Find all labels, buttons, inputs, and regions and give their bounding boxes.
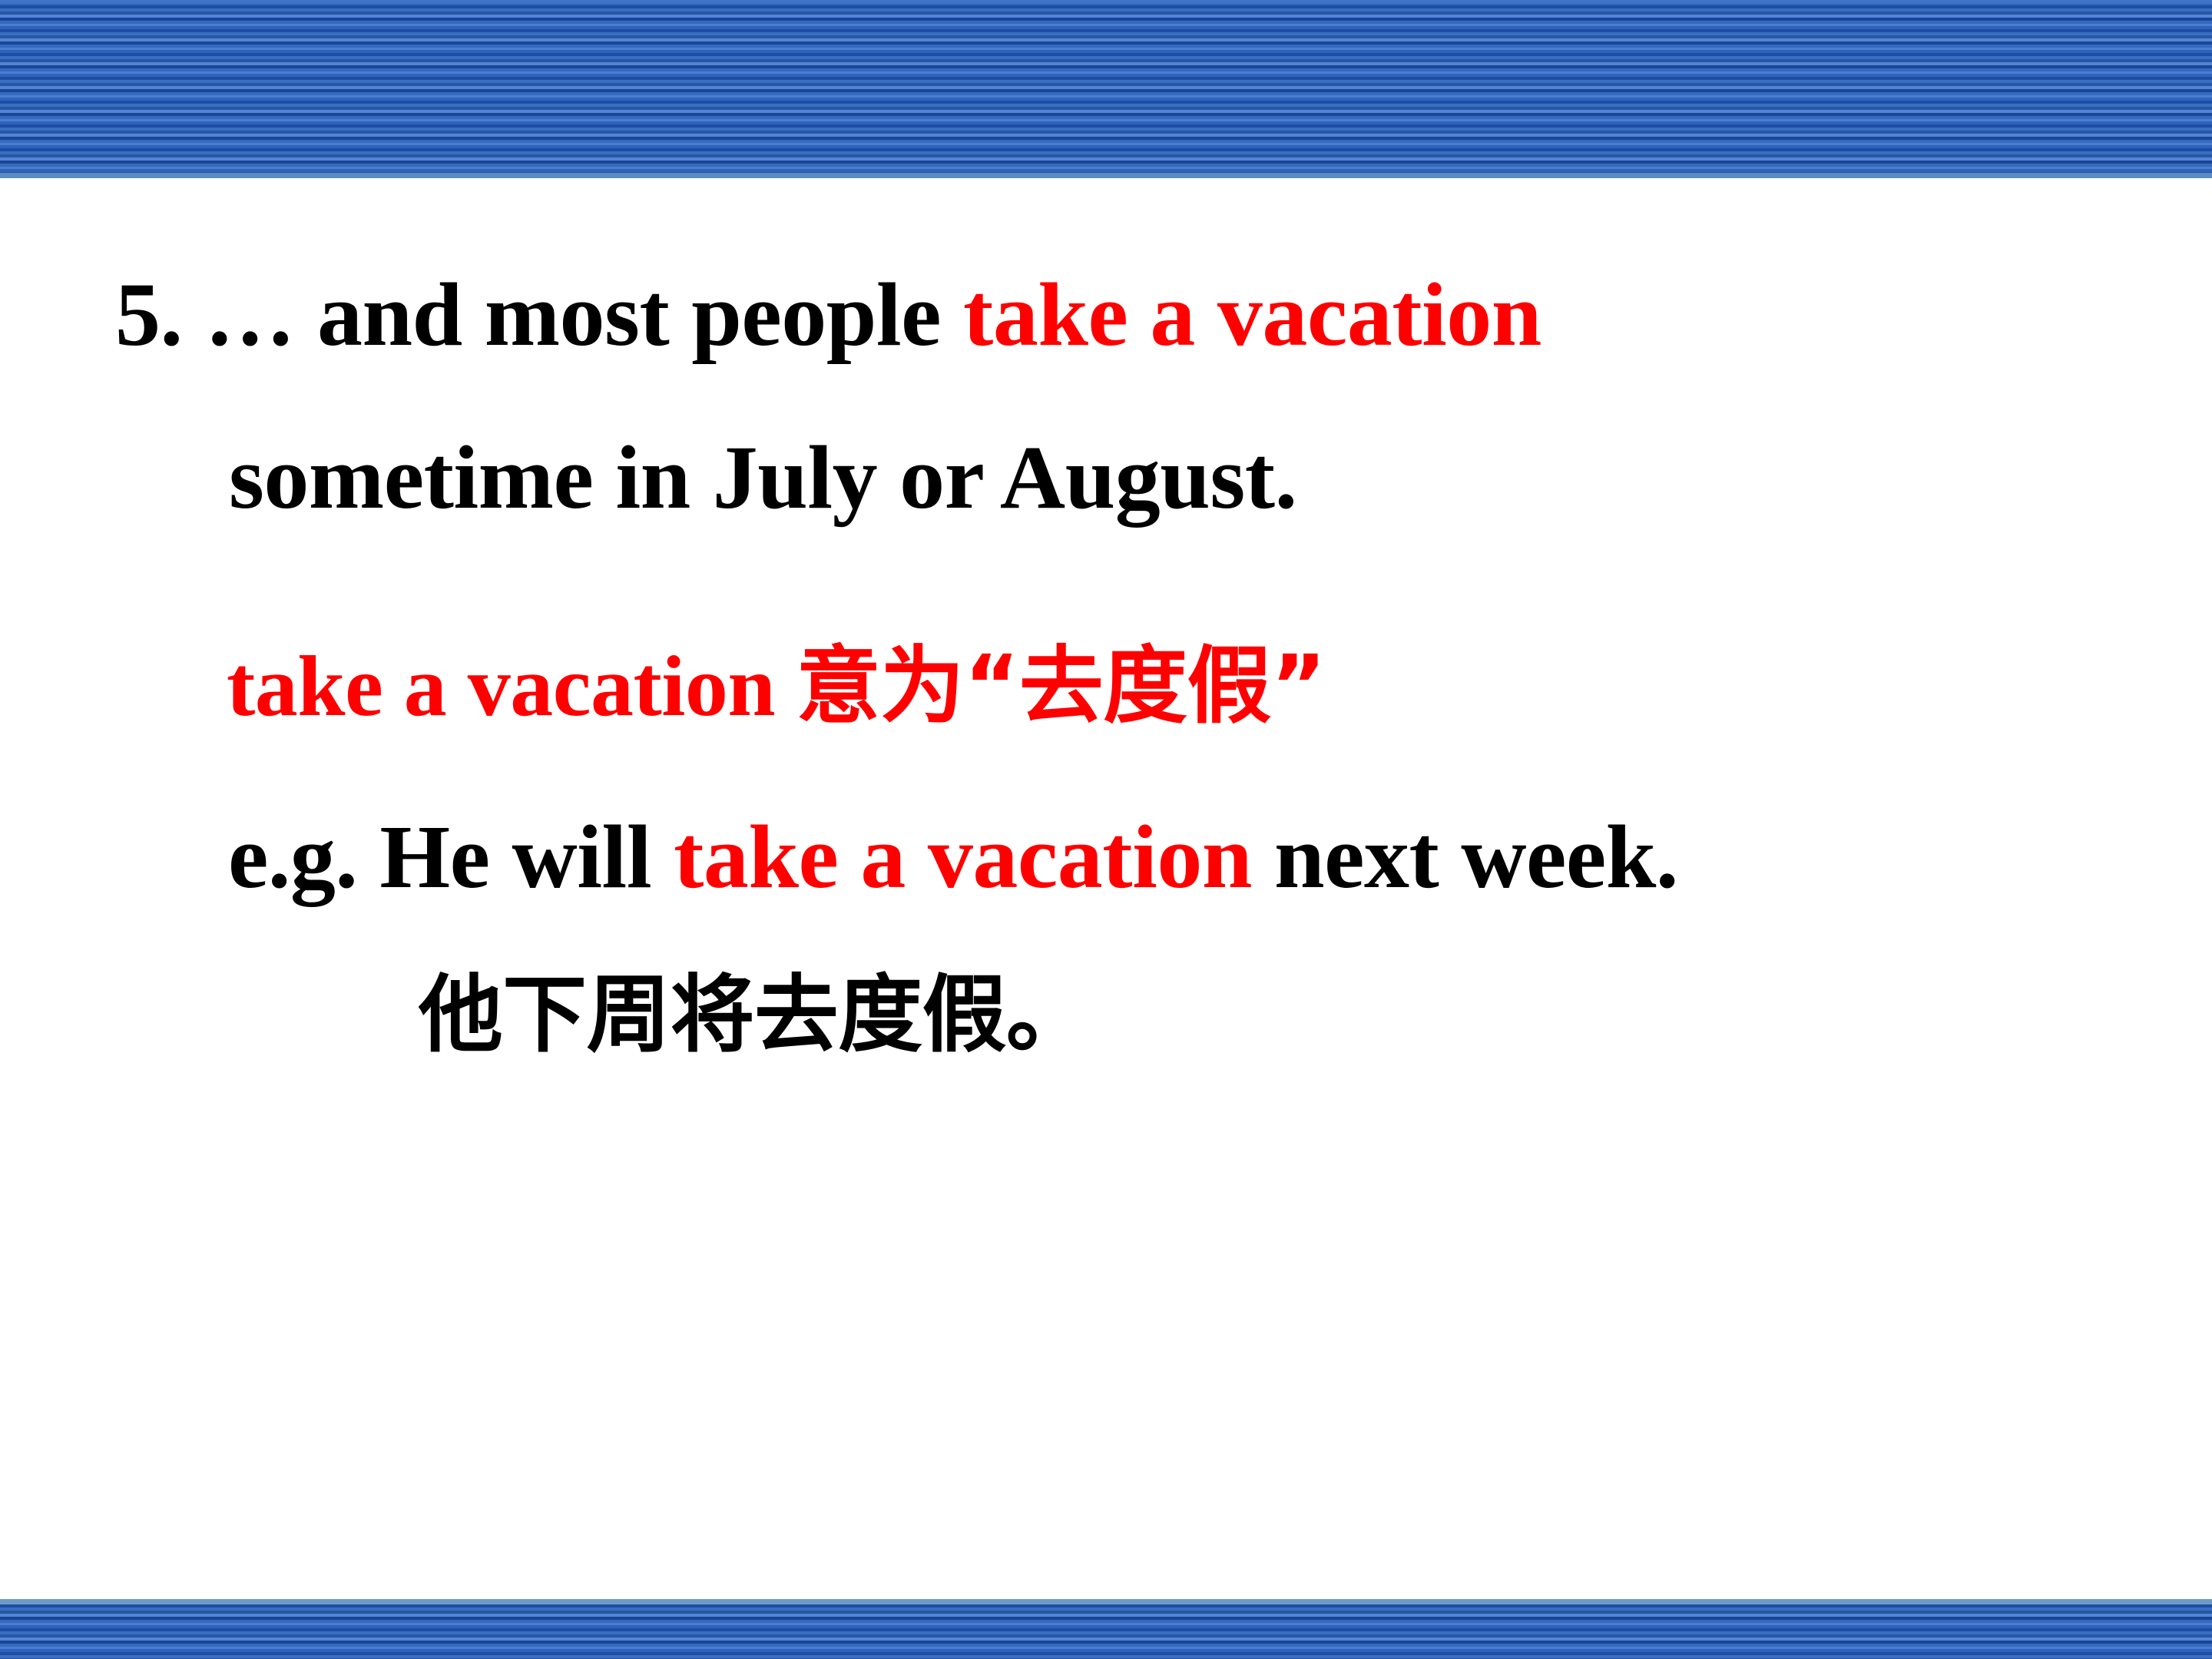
bullet-line-2: sometime in July or August.	[229, 426, 1297, 530]
presentation-slide: 5. … and most people take a vacation som…	[0, 0, 2212, 1659]
example-suffix: next week.	[1274, 806, 1678, 907]
example-highlight-phrase: take a vacation	[674, 806, 1252, 907]
definition-line: take a vacation 意为“去度假”	[227, 618, 1326, 740]
slide-content-area: 5. … and most people take a vacation som…	[0, 178, 2212, 1599]
definition-chinese-gloss: 意为“去度假”	[796, 637, 1326, 735]
bullet-line-1: 5. … and most people take a vacation	[115, 263, 1541, 367]
example-chinese-translation: 他下周将去度假。	[419, 965, 1090, 1064]
definition-phrase: take a vacation	[227, 639, 775, 734]
line-1-highlight-phrase: take a vacation	[963, 264, 1541, 365]
line-1-black-text: … and most people	[205, 264, 942, 365]
example-prefix: e.g. He will	[228, 806, 651, 907]
bullet-number: 5.	[115, 264, 183, 365]
bottom-decorative-banner	[0, 1599, 2212, 1659]
line-2-text: sometime in July or August.	[229, 427, 1297, 528]
example-translation-line: 他下周将去度假。	[419, 946, 1090, 1068]
top-decorative-banner	[0, 0, 2212, 178]
example-line: e.g. He will take a vacation next week.	[228, 805, 1678, 909]
